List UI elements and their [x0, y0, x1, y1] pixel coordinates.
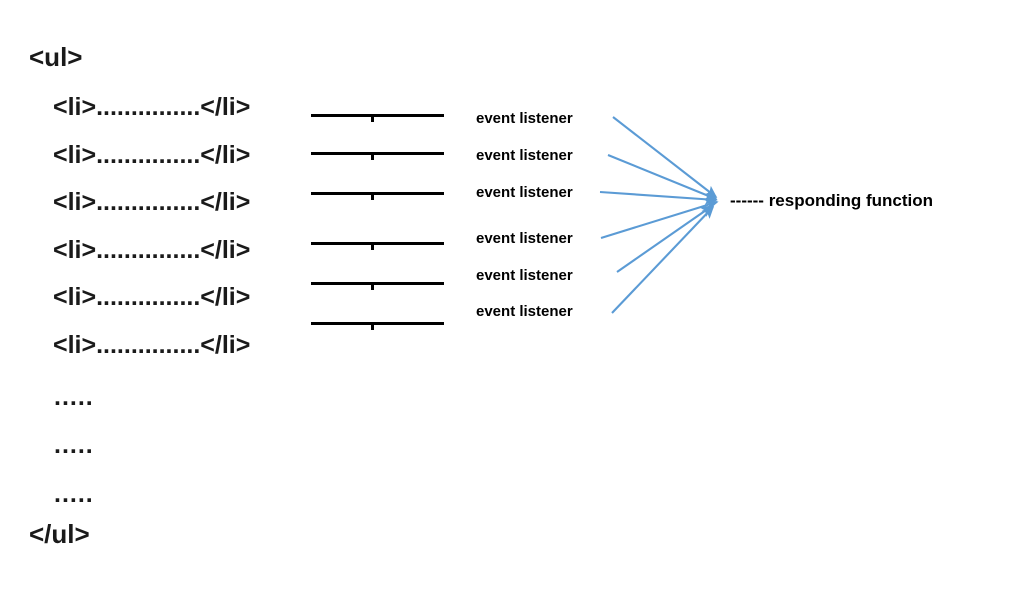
rule-line	[311, 282, 444, 285]
arrow-to-function	[608, 155, 716, 199]
rule-line	[311, 322, 444, 325]
code-list-item: <li>...............</li>	[53, 238, 250, 263]
code-list-item: <li>...............</li>	[53, 143, 250, 168]
rule-line-tick	[371, 285, 374, 290]
event-listener-label: event listener	[476, 268, 573, 283]
code-list-item: <li>...............</li>	[53, 190, 250, 215]
code-list-item: <li>...............</li>	[53, 95, 250, 120]
arrow-to-function	[617, 206, 712, 272]
event-listener-label: event listener	[476, 148, 573, 163]
arrow-to-function	[612, 207, 713, 313]
rule-line	[311, 192, 444, 195]
arrow-to-function	[600, 192, 716, 200]
event-listener-label: event listener	[476, 111, 573, 126]
rule-line-tick	[371, 245, 374, 250]
code-open-tag: <ul>	[29, 44, 82, 70]
rule-line	[311, 152, 444, 155]
rule-line-tick	[371, 117, 374, 122]
rule-line-tick	[371, 325, 374, 330]
code-ellipsis-row: .....	[54, 482, 94, 507]
event-listener-label: event listener	[476, 231, 573, 246]
rule-line	[311, 242, 444, 245]
arrow-to-function	[613, 117, 716, 197]
event-listener-label: event listener	[476, 185, 573, 200]
code-ellipsis-row: .....	[54, 385, 94, 410]
event-listener-label: event listener	[476, 304, 573, 319]
code-close-tag: </ul>	[29, 521, 90, 547]
rule-line	[311, 114, 444, 117]
arrow-to-function	[601, 202, 717, 238]
diagram-canvas: <ul> <li>...............</li> <li>......…	[0, 0, 1011, 601]
rule-line-tick	[371, 155, 374, 160]
responding-function-label: ------ responding function	[730, 192, 933, 209]
code-ellipsis-row: .....	[54, 433, 94, 458]
code-list-item: <li>...............</li>	[53, 333, 250, 358]
code-list-item: <li>...............</li>	[53, 285, 250, 310]
rule-line-tick	[371, 195, 374, 200]
